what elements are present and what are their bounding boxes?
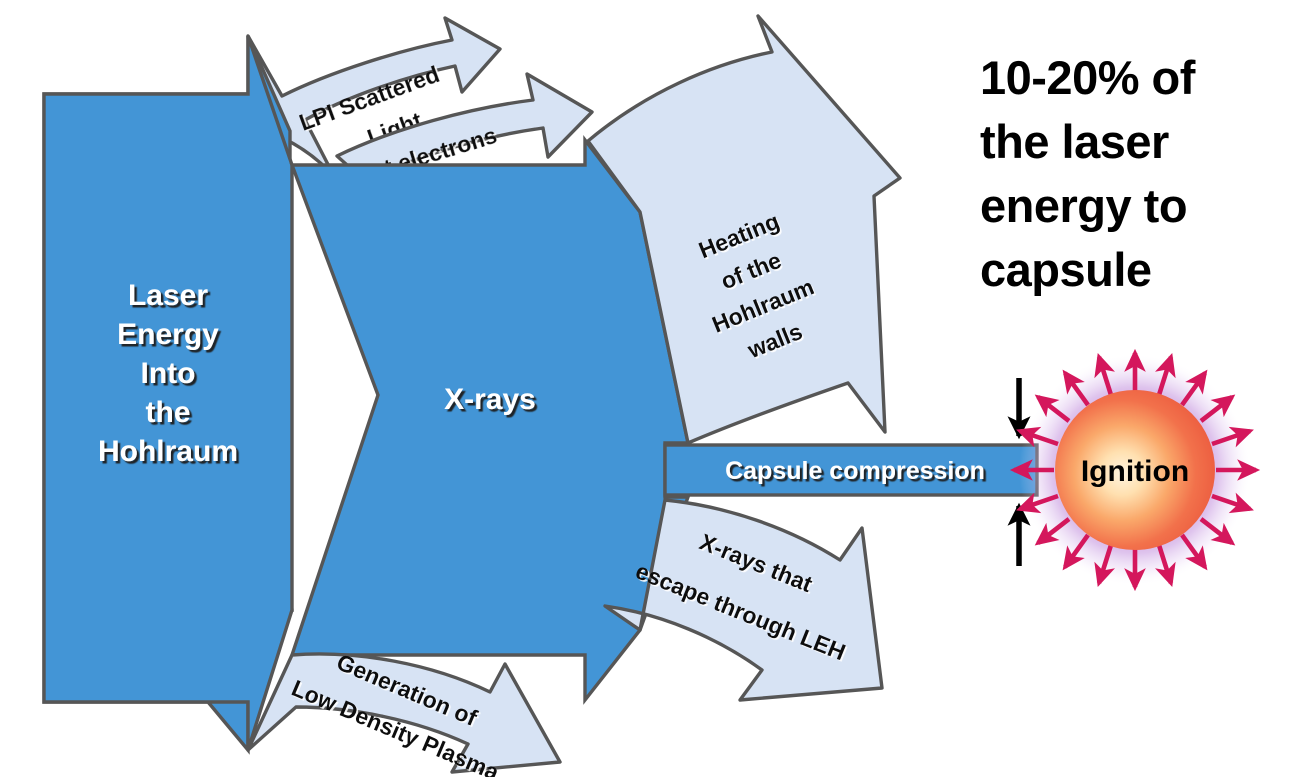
main-flow-laser-energy-block: Laser Energy Into the Hohlraum — [44, 36, 292, 750]
ignition-capsule-group: Ignition — [1014, 353, 1256, 587]
headline-line3: energy to — [980, 179, 1187, 232]
laser-energy-label-line4: the — [146, 396, 191, 429]
laser-energy-label-line1: Laser — [128, 279, 208, 312]
ignition-label: Ignition — [1081, 455, 1189, 488]
loss-arrow-generation-low-density-plasma: Generation of Low Density Plasma — [248, 649, 560, 777]
headline-line1: 10-20% of — [980, 51, 1196, 104]
headline-line4: capsule — [980, 243, 1152, 296]
capsule-compression-bar: Capsule compression — [665, 445, 1037, 495]
energy-flow-diagram: LPI Scattered Light Hot electrons Laser … — [0, 0, 1315, 777]
laser-energy-label-line3: Into — [141, 357, 196, 390]
laser-energy-label-line5: Hohlraum — [98, 435, 238, 468]
laser-energy-label-line2: Energy — [117, 318, 219, 351]
headline-line2: the laser — [980, 115, 1169, 168]
xrays-label: X-rays — [444, 383, 536, 416]
headline-group: 10-20% of the laser energy to capsule — [980, 51, 1196, 296]
diagram-canvas: LPI Scattered Light Hot electrons Laser … — [0, 0, 1315, 777]
capsule-compression-label: Capsule compression — [725, 457, 985, 485]
